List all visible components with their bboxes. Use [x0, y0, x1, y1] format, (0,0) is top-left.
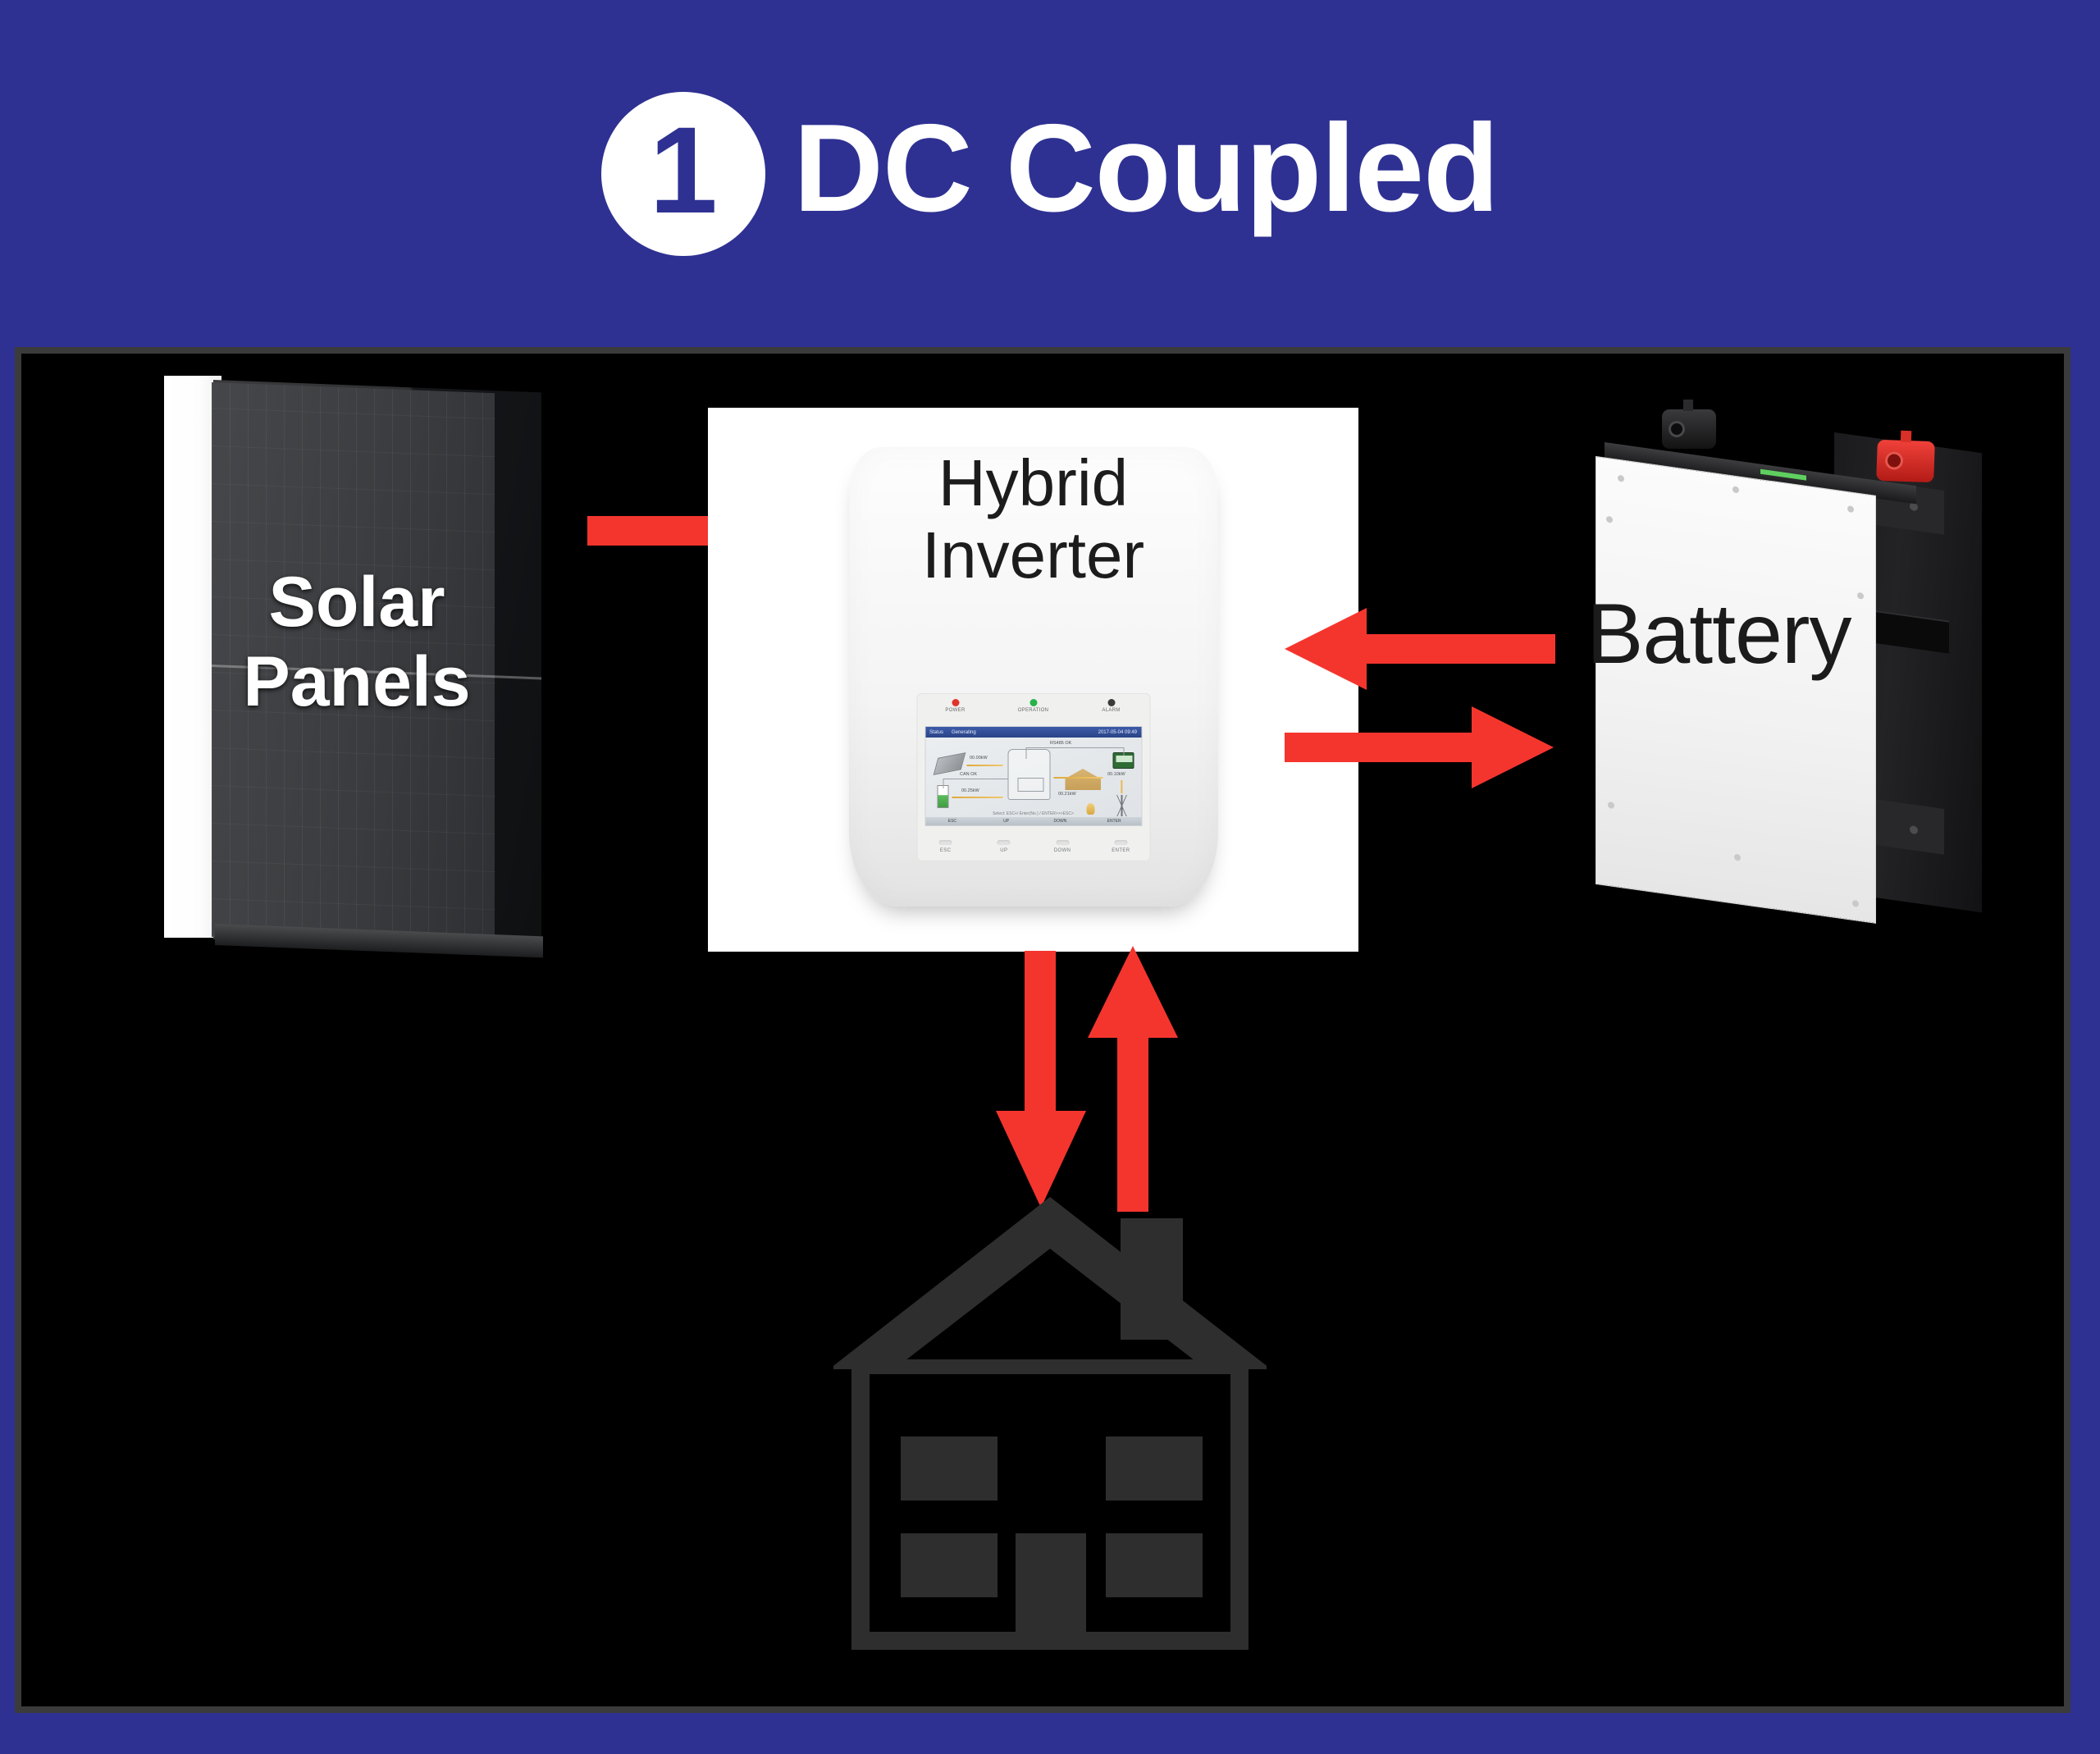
hybrid-inverter-label: Hybrid Inverter [708, 447, 1358, 592]
inverter-lcd-screen[interactable]: Status Generating 2017-05-04 09:49 [924, 726, 1142, 826]
battery-screw [1734, 854, 1741, 861]
lcd-softkey-bar: ESC UP DOWN ENTER [925, 817, 1141, 825]
lcd-rs485-label: RS485 OK [1050, 741, 1071, 746]
lcd-flow-battery [952, 797, 1002, 798]
solar-label-line1: Solar [164, 563, 550, 642]
battery-bolt [1910, 825, 1918, 834]
diagram-frame: Solar Panels POWER [15, 347, 2070, 1713]
page-title: DC Coupled [793, 106, 1499, 242]
battery-screw [1852, 900, 1859, 907]
lcd-status-label: Status [929, 730, 943, 735]
arrow-head-up [1088, 946, 1178, 1038]
lcd-grid-power: 00.10kW [1107, 772, 1125, 777]
arrow-battery-to-inverter [1285, 608, 1555, 690]
key-down-label: DOWN [1034, 848, 1092, 853]
key-down[interactable]: DOWN [1034, 840, 1092, 853]
step-number-badge: 1 [601, 92, 765, 256]
lcd-flow-grid [1121, 780, 1122, 793]
led-alarm-label: ALARM [1072, 708, 1150, 713]
lcd-softkey-down[interactable]: DOWN [1034, 819, 1088, 824]
battery-screw [1732, 486, 1739, 493]
battery-screw [1618, 475, 1624, 482]
led-power: POWER [916, 699, 994, 713]
led-operation-label: OPERATION [994, 708, 1072, 713]
inverter-control-panel: POWER OPERATION ALARM [916, 693, 1150, 861]
key-up-label: UP [975, 848, 1033, 853]
key-up[interactable]: UP [975, 840, 1033, 853]
key-enter-label: ENTER [1092, 848, 1150, 853]
lcd-can-label: CAN OK [960, 772, 977, 777]
house-window-icon [1106, 1437, 1203, 1500]
inverter-label-line2: Inverter [708, 519, 1358, 592]
battery: Battery [1572, 403, 2031, 928]
inverter-keypad: ESC UP DOWN [916, 840, 1150, 853]
arrow-head-down [996, 1111, 1086, 1208]
battery-status-led-icon [1760, 469, 1806, 481]
battery-screw [1608, 802, 1614, 809]
lcd-line-rs485-left [1025, 747, 1026, 759]
lcd-softkey-up[interactable]: UP [979, 819, 1034, 824]
step-number: 1 [649, 108, 717, 231]
arrow-shaft [1358, 634, 1555, 664]
power-led-icon [952, 699, 959, 706]
house-window-icon [901, 1437, 997, 1500]
lcd-status-value: Generating [952, 730, 976, 735]
lcd-footer-hint: Select: ESC+/ Enter(No.) / ENTER>>>ESC> [925, 811, 1141, 816]
hybrid-inverter: POWER OPERATION ALARM [708, 408, 1358, 952]
key-up-dot [997, 840, 1011, 845]
battery-positive-terminal[interactable] [1876, 440, 1935, 482]
operation-led-icon [1029, 699, 1037, 706]
house-load [833, 1197, 1267, 1650]
inverter-label-line1: Hybrid [708, 447, 1358, 519]
battery-screw [1847, 505, 1854, 513]
solar-label-line2: Panels [164, 642, 550, 722]
lcd-battery-icon [937, 785, 948, 808]
led-power-label: POWER [916, 708, 994, 713]
header-banner: 1 DC Coupled [0, 0, 2100, 347]
key-esc-label: ESC [916, 848, 975, 853]
lcd-pv-power: 00.00kW [970, 756, 988, 761]
arrow-shaft [1285, 733, 1481, 762]
arrow-shaft [1117, 1021, 1148, 1212]
battery-screw [1606, 516, 1613, 523]
lcd-datetime: 2017-05-04 09:49 [1098, 730, 1137, 735]
key-enter[interactable]: ENTER [1092, 840, 1150, 853]
house-door-icon [1016, 1533, 1086, 1637]
lcd-flow-pv [966, 765, 1002, 766]
lcd-line-rs485-right [1123, 747, 1124, 756]
lcd-house-icon [1065, 769, 1101, 790]
house-window-icon [1106, 1533, 1203, 1597]
house-window-icon [901, 1533, 997, 1597]
battery-front-face [1596, 457, 1875, 923]
diagram-root: 1 DC Coupled Solar Panels [0, 0, 2100, 1754]
house-roof-icon [833, 1197, 1267, 1369]
arrow-head-left [1285, 608, 1367, 690]
key-esc[interactable]: ESC [916, 840, 975, 853]
solar-panels: Solar Panels [164, 376, 550, 950]
arrow-head-right [1472, 706, 1554, 788]
lcd-line-can-top [943, 779, 1008, 779]
arrow-house-to-inverter [1088, 946, 1178, 1210]
arrow-inverter-to-battery [1285, 706, 1555, 788]
lcd-softkey-enter[interactable]: ENTER [1087, 819, 1141, 824]
arrow-shaft [1025, 951, 1056, 1131]
inverter-led-row: POWER OPERATION ALARM [916, 699, 1150, 713]
battery-negative-post [1683, 400, 1693, 411]
led-operation: OPERATION [994, 699, 1072, 713]
led-alarm: ALARM [1072, 699, 1150, 713]
arrow-inverter-to-house [996, 951, 1086, 1212]
lcd-battery-power: 00.25kW [961, 788, 979, 793]
battery-negative-terminal[interactable] [1662, 409, 1716, 449]
diagram-canvas: Solar Panels POWER [21, 354, 2064, 1706]
lcd-flow-load [1053, 777, 1102, 779]
lcd-line-rs485-top [1025, 747, 1124, 748]
key-enter-dot [1114, 840, 1127, 845]
lcd-load-power: 00.21kW [1058, 792, 1076, 797]
key-down-dot [1056, 840, 1069, 845]
lcd-line-can-left [943, 779, 943, 788]
key-esc-dot [939, 840, 952, 845]
alarm-led-icon [1107, 699, 1115, 706]
battery-label: Battery [1586, 592, 1890, 677]
solar-panels-label: Solar Panels [164, 563, 550, 722]
lcd-inverter-icon [1007, 749, 1050, 800]
battery-positive-post [1901, 431, 1911, 442]
lcd-softkey-esc[interactable]: ESC [925, 819, 979, 824]
lcd-status-bar: Status Generating 2017-05-04 09:49 [925, 727, 1141, 738]
